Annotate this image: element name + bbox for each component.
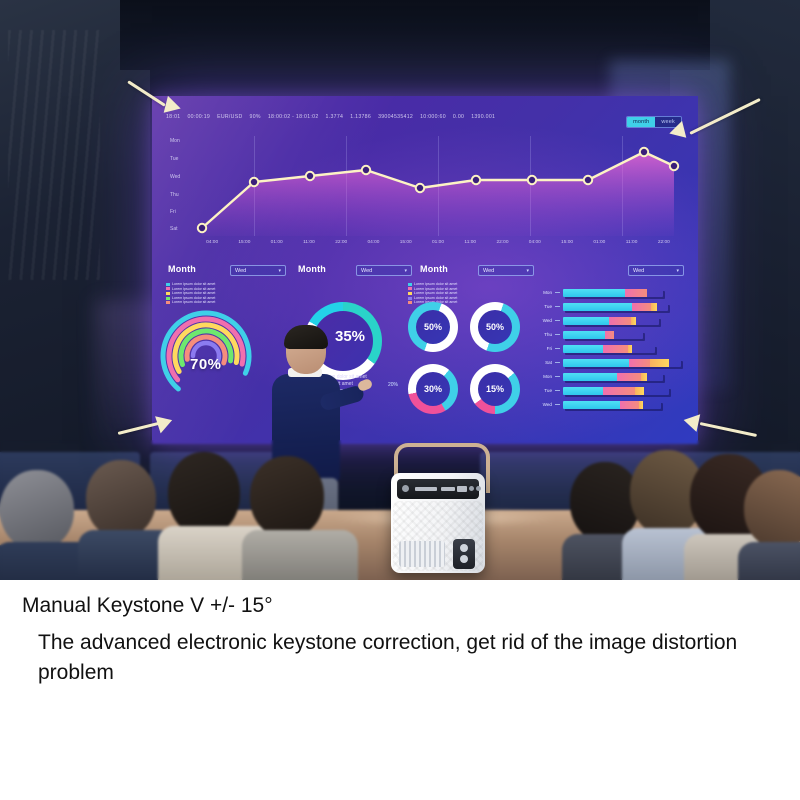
bar-seg-pink — [629, 359, 650, 367]
dropdown-day-4[interactable]: Wed ▾ — [628, 265, 684, 276]
ticker-item: 1390.001 — [471, 114, 495, 120]
caption-line-1: Manual Keystone V +/- 15° — [22, 594, 273, 618]
side-dial-icon[interactable] — [460, 544, 468, 552]
bar-label: Mon — [530, 290, 555, 295]
y-tick: Sat — [170, 226, 192, 232]
radial-chart-70-value: 70% — [190, 356, 222, 373]
section-label-month-1: Month — [168, 264, 196, 274]
line-series-svg — [196, 136, 680, 236]
donut-grid: 50% 50% 30% 15% — [408, 302, 526, 420]
x-tick: 15:00 — [551, 240, 583, 250]
line-chart-plot — [196, 136, 680, 236]
bar-seg-cyan — [563, 331, 605, 339]
bar-label: Mon — [530, 374, 555, 379]
x-tick: 04:00 — [357, 240, 389, 250]
ticker-item: 10:000:60 — [420, 114, 446, 120]
bar-seg-cyan — [563, 401, 620, 409]
bar-dash — [555, 320, 560, 321]
dropdown-value: Wed — [483, 268, 494, 274]
chevron-down-icon: ▾ — [278, 268, 281, 274]
legend-swatch — [408, 297, 412, 300]
x-axis-labels: 04:00 15:00 01:00 11:00 22:00 04:00 15:0… — [196, 240, 680, 250]
legend-swatch — [166, 301, 170, 304]
bar-dash — [555, 404, 560, 405]
bar-dash — [555, 334, 560, 335]
x-tick: 01:00 — [583, 240, 615, 250]
legend-swatch — [166, 283, 170, 286]
ticker-strip: 18:01 00:00:19 EUR/USD 90% 18:00:02 - 18… — [166, 110, 684, 124]
bar-seg-cyan — [563, 345, 603, 353]
port-hdmi — [415, 487, 437, 491]
bar-seg-orange — [639, 401, 643, 409]
port-jack-1 — [469, 486, 474, 491]
ticker-item: 18:00:02 - 18:01:02 — [268, 114, 319, 120]
bar-seg-cyan — [563, 387, 603, 395]
bar-dash — [555, 348, 560, 349]
ticker-item: 1.3774 — [326, 114, 344, 120]
bar-seg-cyan — [563, 289, 625, 297]
bar-label: Fri — [530, 346, 555, 351]
legend-swatch — [408, 287, 412, 290]
legend-swatch — [166, 292, 170, 295]
bar-track — [563, 331, 643, 339]
x-tick: 22:00 — [486, 240, 518, 250]
bar-label: Thu — [530, 332, 555, 337]
y-tick: Fri — [170, 209, 192, 215]
bar-seg-cyan — [563, 359, 629, 367]
bar-label: Sat — [530, 360, 555, 365]
dropdown-value: Wed — [633, 268, 644, 274]
body-text-percent: 20% — [388, 382, 398, 388]
x-tick: 11:00 — [615, 240, 647, 250]
bar-seg-pink — [603, 345, 629, 353]
x-tick: 15:00 — [390, 240, 422, 250]
legend-swatch — [166, 297, 170, 300]
y-tick: Tue — [170, 156, 192, 162]
bar-dash — [555, 390, 560, 391]
bar-seg-orange — [641, 373, 647, 381]
ticker-item: 90% — [250, 114, 261, 120]
filter-row: Month Wed ▾ Month Wed ▾ Month Wed ▾ Wed — [168, 264, 684, 278]
bar-row: Mon — [530, 288, 663, 297]
donut-chart-35-value: 35% — [320, 328, 380, 345]
y-tick: Thu — [170, 192, 192, 198]
port-av — [457, 486, 467, 492]
bar-dash — [555, 362, 560, 363]
bar-row: Wed — [530, 316, 659, 325]
bar-track — [563, 373, 663, 381]
legend-swatch — [408, 292, 412, 295]
legend-swatch — [166, 287, 170, 290]
caption-block: Manual Keystone V +/- 15° The advanced e… — [0, 580, 800, 800]
bar-dash — [555, 292, 560, 293]
chevron-down-icon: ▾ — [676, 268, 679, 274]
ticker-item: 0.00 — [453, 114, 464, 120]
bar-label: Tue — [530, 388, 555, 393]
dropdown-day-3[interactable]: Wed ▾ — [478, 265, 534, 276]
bar-track — [563, 401, 661, 409]
bar-seg-cyan — [563, 303, 632, 311]
side-dial-icon-2[interactable] — [460, 555, 468, 563]
x-tick: 22:00 — [325, 240, 357, 250]
line-chart: Mon Tue Wed Thu Fri Sat — [170, 136, 680, 248]
bar-track — [563, 359, 681, 367]
bar-label: Tue — [530, 304, 555, 309]
x-tick: 01:00 — [422, 240, 454, 250]
bar-chart: Mon Tue Wed Thu Fri Sat Mon Tue Wed — [530, 288, 682, 428]
bar-track — [563, 387, 669, 395]
legend-label: Lorem ipsum dolor sit amet — [172, 300, 215, 305]
port-jack-2 — [476, 486, 481, 491]
radial-chart-70: 70% — [160, 310, 252, 402]
bar-track — [563, 317, 659, 325]
legend-swatch — [408, 283, 412, 286]
y-tick: Mon — [170, 138, 192, 144]
bar-row: Tue — [530, 386, 669, 395]
caption-line-2: The advanced electronic keystone correct… — [38, 628, 778, 688]
ticker-item: 1.13786 — [350, 114, 371, 120]
bar-seg-orange — [628, 345, 632, 353]
bar-seg-orange — [651, 303, 657, 311]
x-tick: 04:00 — [519, 240, 551, 250]
bar-seg-orange — [635, 387, 643, 395]
legend-left: Lorem ipsum dolor sit amet Lorem ipsum d… — [166, 282, 215, 305]
bar-seg-pink — [605, 331, 615, 339]
x-tick: 01:00 — [261, 240, 293, 250]
toggle-month[interactable]: month — [627, 117, 655, 127]
bar-seg-pink — [632, 303, 651, 311]
projector-device — [385, 443, 491, 573]
bar-seg-pink — [609, 317, 631, 325]
donut-30-value: 30% — [408, 364, 458, 414]
bar-dash — [555, 306, 560, 307]
donut-15-value: 15% — [470, 364, 520, 414]
x-tick: 15:00 — [228, 240, 260, 250]
bar-label: Wed — [530, 402, 555, 407]
bar-row: Wed — [530, 400, 661, 409]
projector-side-panel — [453, 539, 475, 569]
bar-label: Wed — [530, 318, 555, 323]
ticker-item: 39004535412 — [378, 114, 413, 120]
projection-screen: 18:01 00:00:19 EUR/USD 90% 18:00:02 - 18… — [152, 96, 698, 444]
bar-dash — [555, 376, 560, 377]
section-label-month-3: Month — [420, 264, 448, 274]
section-label-month-2: Month — [298, 264, 326, 274]
port-usb — [441, 487, 455, 491]
projector-vent-grille — [399, 541, 445, 567]
x-tick: 22:00 — [648, 240, 680, 250]
bar-row: Sat — [530, 358, 681, 367]
power-button-icon[interactable] — [402, 485, 409, 492]
screenshot-root: 18:01 00:00:19 EUR/USD 90% 18:00:02 - 18… — [0, 0, 800, 800]
dropdown-value: Wed — [235, 268, 246, 274]
x-tick: 04:00 — [196, 240, 228, 250]
bar-seg-orange — [650, 359, 669, 367]
bar-track — [563, 289, 663, 297]
bar-seg-pink — [620, 401, 640, 409]
y-tick: Wed — [170, 174, 192, 180]
bar-seg-cyan — [563, 373, 617, 381]
bar-track — [563, 345, 655, 353]
chevron-down-icon: ▾ — [526, 268, 529, 274]
x-tick: 11:00 — [293, 240, 325, 250]
bar-row: Tue — [530, 302, 668, 311]
dropdown-day-1[interactable]: Wed ▾ — [230, 265, 286, 276]
product-photo: 18:01 00:00:19 EUR/USD 90% 18:00:02 - 18… — [0, 0, 800, 580]
bar-seg-cyan — [563, 317, 609, 325]
ticker-item: EUR/USD — [217, 114, 242, 120]
x-tick: 11:00 — [454, 240, 486, 250]
range-toggle[interactable]: month week — [626, 116, 682, 128]
dropdown-day-2[interactable]: Wed ▾ — [356, 265, 412, 276]
bar-row: Mon — [530, 372, 663, 381]
chevron-down-icon: ▾ — [404, 268, 407, 274]
bar-seg-pink — [603, 387, 635, 395]
bar-seg-orange — [631, 317, 636, 325]
dropdown-value: Wed — [361, 268, 372, 274]
bar-seg-pink — [625, 289, 647, 297]
donut-50-a-value: 50% — [408, 302, 458, 352]
bar-seg-pink — [617, 373, 641, 381]
bar-track — [563, 303, 668, 311]
projector-top-panel — [397, 479, 479, 499]
bar-row: Thu — [530, 330, 643, 339]
bar-row: Fri — [530, 344, 655, 353]
donut-50-b-value: 50% — [470, 302, 520, 352]
ticker-item: 00:00:19 — [187, 114, 210, 120]
legend-item: Lorem ipsum dolor sit amet — [166, 300, 215, 305]
